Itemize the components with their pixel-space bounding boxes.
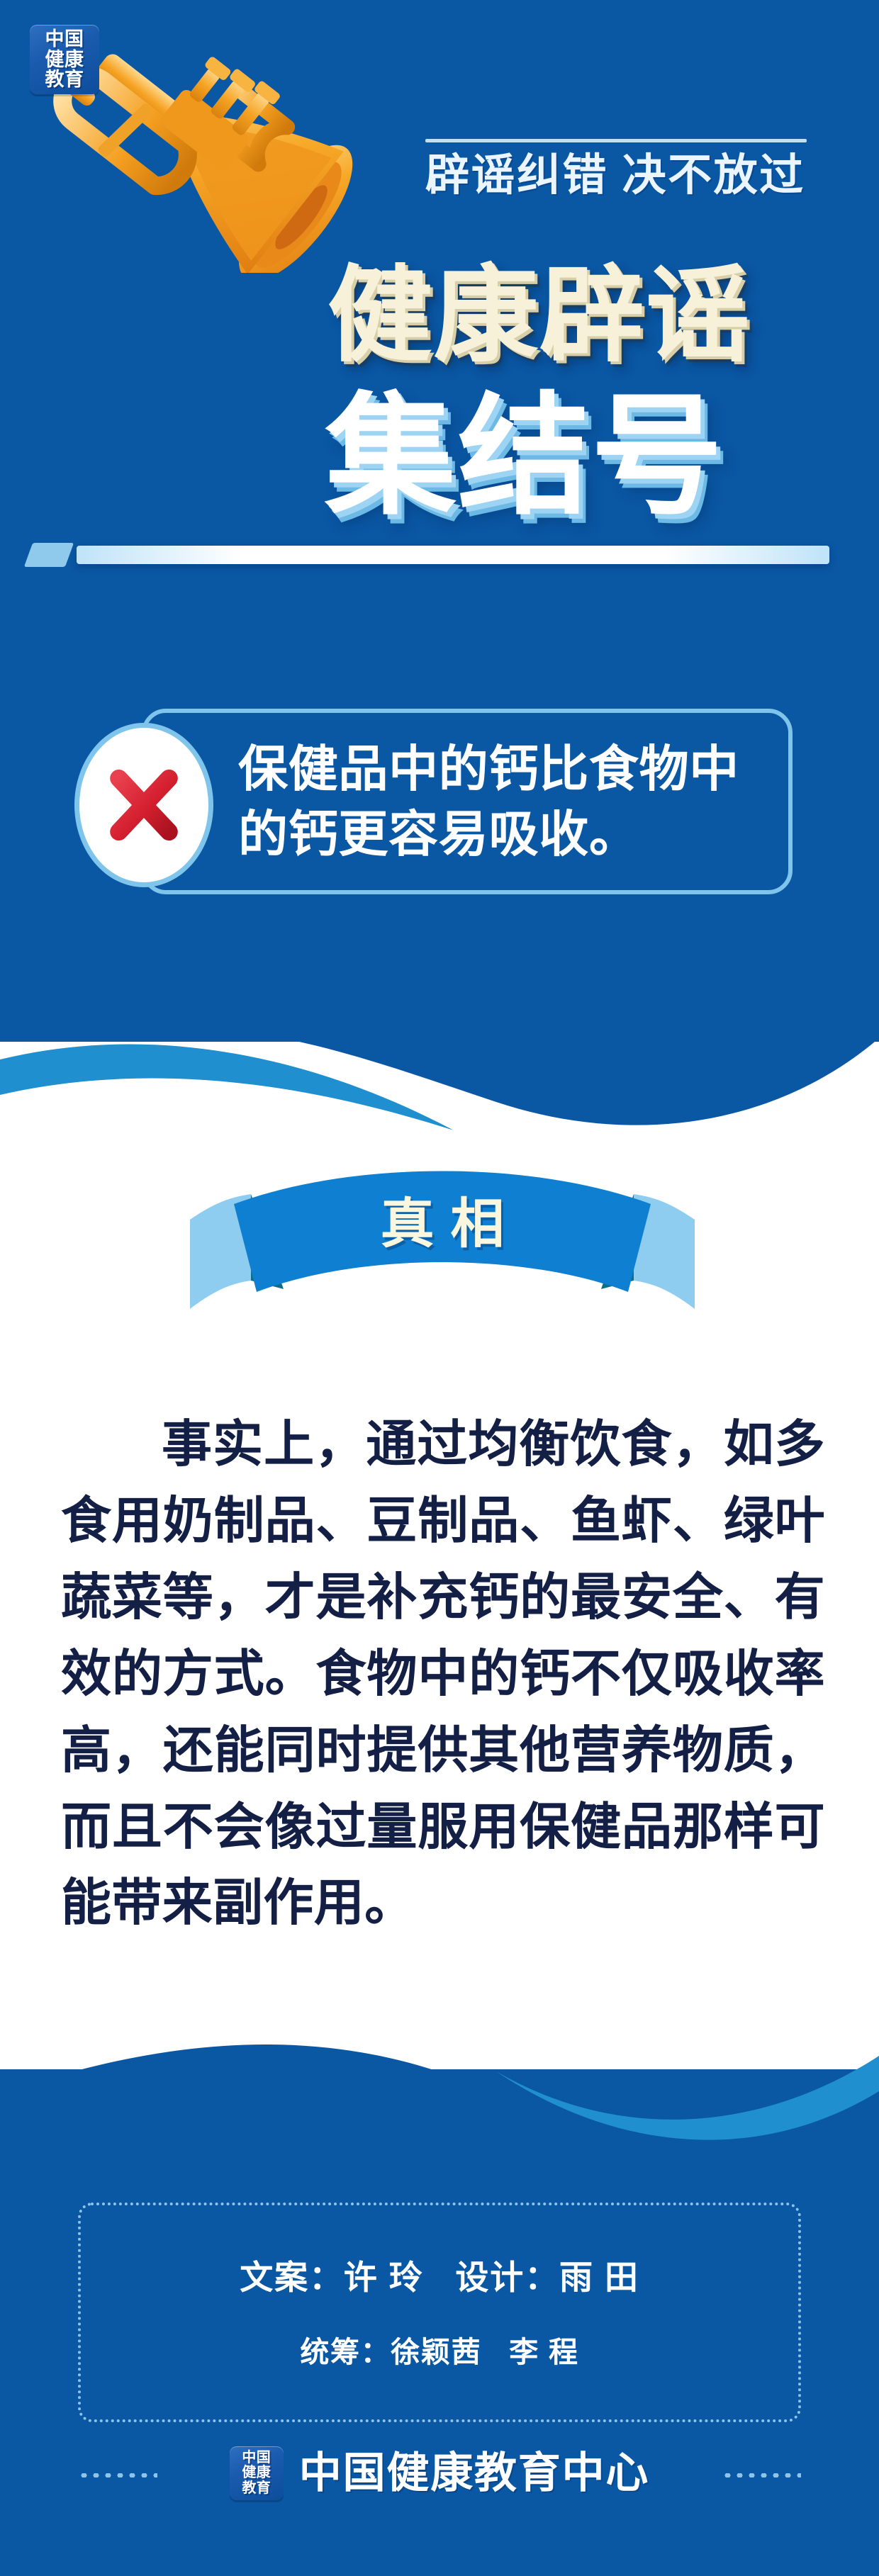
title-underline-bar: [77, 546, 829, 564]
slogan-text: 辟谣纠错 决不放过: [425, 154, 807, 198]
rumor-text: 保健品中的钙比食物中的钙更容易吸收。: [146, 736, 788, 867]
logo-line-3: 教育: [45, 69, 84, 90]
wave-divider-bottom: [0, 1952, 879, 2140]
credits-box: [78, 2203, 801, 2422]
logo-line-1: 中国: [45, 29, 84, 50]
logo-line-1: 中国: [242, 2451, 271, 2465]
red-x-icon: [74, 723, 213, 887]
logo-line-3: 教育: [242, 2481, 271, 2496]
slogan-block: 辟谣纠错 决不放过: [425, 139, 807, 198]
slogan-divider: [425, 139, 807, 142]
poster-root: 中国 健康 教育: [0, 0, 879, 2576]
page-title-line-1: 健康辟谣: [327, 264, 751, 369]
logo-line-2: 健康: [45, 50, 84, 70]
footer-organization: 中国 健康 教育 中国健康教育中心: [0, 2446, 879, 2500]
brand-logo-badge: 中国 健康 教育: [230, 2446, 284, 2500]
logo-line-2: 健康: [242, 2465, 271, 2480]
organization-name: 中国健康教育中心: [299, 2452, 649, 2495]
truth-body-text: 事实上，通过均衡饮食，如多食用奶制品、豆制品、鱼虾、绿叶蔬菜等，才是补充钙的最安…: [61, 1407, 825, 1942]
wave-divider-top: [0, 953, 879, 1137]
page-title-line-2: 集结号: [325, 391, 724, 523]
truth-banner-label: 真相: [190, 1198, 695, 1252]
rumor-card: 保健品中的钙比食物中的钙更容易吸收。: [142, 709, 793, 894]
credit-line-authors: 文案：许 玲 设计：雨 田: [78, 2250, 801, 2299]
credit-line-producers: 统筹：徐颖茜 李 程: [78, 2328, 801, 2370]
brand-logo-badge: 中国 健康 教育: [30, 25, 99, 94]
